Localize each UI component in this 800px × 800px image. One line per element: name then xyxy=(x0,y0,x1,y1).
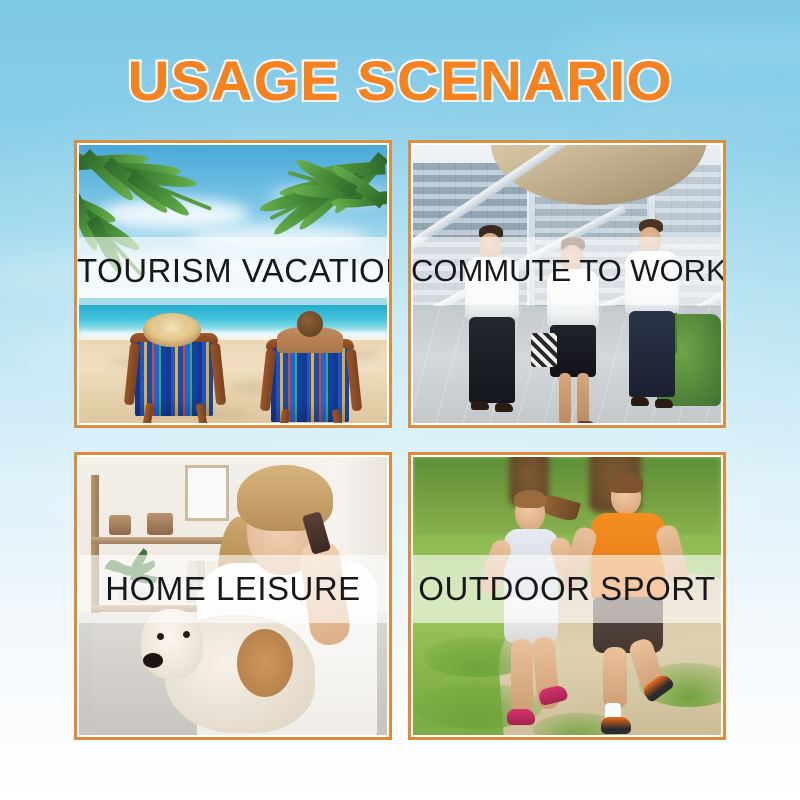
sunbather-head xyxy=(297,311,323,337)
dog-eye xyxy=(183,631,190,638)
running-shoe xyxy=(507,709,535,725)
leg xyxy=(603,647,627,709)
scenario-card-tourism-vacation[interactable]: TOURISM VACATION xyxy=(74,140,392,428)
usage-scenario-page: USAGE SCENARIO xyxy=(0,0,800,800)
commute-to-work-label-band: COMMUTE TO WORK xyxy=(411,237,723,305)
leg xyxy=(511,639,533,713)
scenario-card-home-leisure[interactable]: HOME LEISURE xyxy=(74,452,392,740)
picture-frame xyxy=(185,465,229,521)
jar xyxy=(109,515,131,535)
page-title-text: USAGE SCENARIO xyxy=(127,52,672,110)
tourism-vacation-label-band: TOURISM VACATION xyxy=(77,237,389,305)
page-title: USAGE SCENARIO xyxy=(0,52,800,110)
handbag xyxy=(531,333,557,367)
scenario-card-outdoor-sport[interactable]: OUTDOOR SPORT xyxy=(408,452,726,740)
outdoor-sport-label: OUTDOOR SPORT xyxy=(411,570,723,608)
home-leisure-label: HOME LEISURE xyxy=(77,570,389,608)
scenario-card-commute-to-work[interactable]: COMMUTE TO WORK xyxy=(408,140,726,428)
straw-hat xyxy=(143,313,201,347)
commute-to-work-label: COMMUTE TO WORK xyxy=(411,253,723,289)
outdoor-sport-label-band: OUTDOOR SPORT xyxy=(411,555,723,623)
scenario-grid: TOURISM VACATION xyxy=(74,140,726,740)
jar xyxy=(147,513,173,535)
dog-eye xyxy=(157,633,164,640)
running-shoe xyxy=(601,717,631,734)
tourism-vacation-label: TOURISM VACATION xyxy=(77,252,389,290)
home-leisure-label-band: HOME LEISURE xyxy=(77,555,389,623)
dog-nose xyxy=(143,653,163,668)
dog-fur-patch xyxy=(237,629,293,697)
